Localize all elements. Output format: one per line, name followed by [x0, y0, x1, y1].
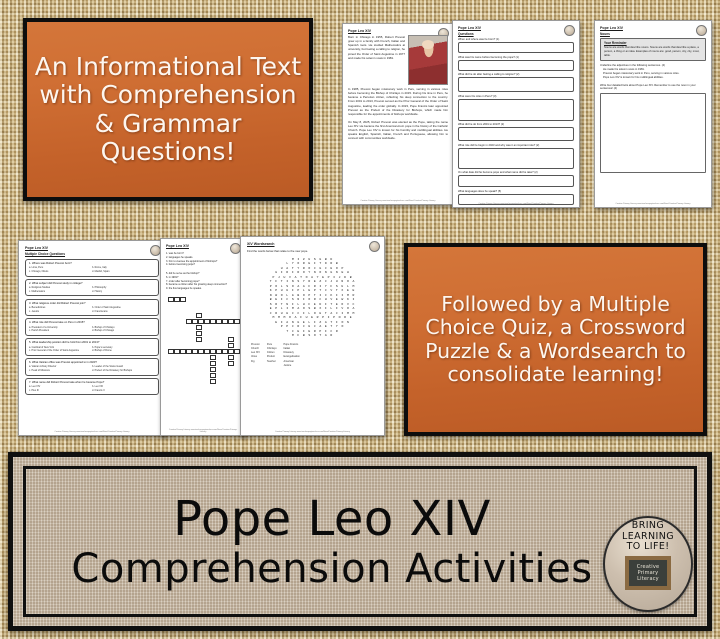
mc-question[interactable]: 2. What subject did Prevost study in col…: [25, 279, 159, 297]
page-footer-credit: Creative Primary Literacy www.teacherspa…: [166, 429, 240, 433]
mc-option-d[interactable]: d. Bishop of Rome: [92, 349, 155, 353]
chalkboard-icon: Creative Primary Literacy: [625, 556, 671, 590]
mc-option-d[interactable]: d. Francis II: [92, 389, 155, 393]
page-subtitle: Questions: [458, 32, 574, 36]
wordsearch-word: Justice: [284, 364, 300, 368]
word-column-1: Prevost Church Leo XIV Vows Fig: [251, 343, 260, 369]
top-marketing-banner: An Informational Text with Comprehension…: [23, 18, 313, 201]
question-label: On what date did he become pope and what…: [458, 171, 574, 174]
wordsearch-instruction: Find the words below that relate to the …: [247, 249, 378, 253]
page-footer-credit: Creative Primary Literacy www.teacherspa…: [458, 203, 574, 205]
question-label: What did he do from 2001 to 2013? (2): [458, 123, 574, 126]
answer-box[interactable]: [600, 93, 706, 173]
page-title: Pope Leo XIV: [458, 26, 574, 30]
page-footer-credit: Creative Primary Literacy www.teacherspa…: [600, 203, 706, 205]
question-label: What did he do after feeling a calling t…: [458, 73, 574, 76]
wordsearch-row: M F B S O T A R: [255, 333, 371, 337]
page-title: XIV Wordsearch: [247, 242, 378, 246]
page-footer-credit: Creative Primary Literacy www.teacherspa…: [24, 431, 160, 433]
word-column-2: Peru Chiclayo Citizen Prefect Teacher: [267, 343, 277, 369]
mc-question[interactable]: 4. What role did Prevost take on Peru in…: [25, 318, 159, 336]
page-title: Pope Leo XIV: [25, 246, 159, 250]
worksheet-crossword[interactable]: Pope Leo XIV 1. was he born? 2. language…: [160, 238, 246, 436]
brand-logo-badge[interactable]: BRING LEARNING TO LIFE! Creative Primary…: [603, 516, 693, 612]
answer-box[interactable]: [458, 148, 574, 169]
right-banner-text: Followed by a Multiple Choice Quiz, a Cr…: [408, 291, 703, 388]
mc-question[interactable]: 6. What Vatican office was Prevost appoi…: [25, 358, 159, 376]
crossword-grid[interactable]: [166, 297, 240, 393]
answer-box[interactable]: [458, 60, 574, 71]
paragraph-2: In 1985, Prevost began missionary work i…: [348, 87, 448, 116]
question-label: When and where was he born? (1): [458, 38, 574, 41]
task-sentence[interactable]: He made his solemn vows in 1981.: [600, 68, 706, 71]
worksheet-comprehension-questions[interactable]: Pope Leo XIV Questions When and where wa…: [452, 20, 580, 208]
answer-box[interactable]: [458, 77, 574, 92]
mc-question-text: 4. What role did Prevost take on Peru in…: [29, 321, 155, 324]
page-subtitle: Multiple Choice Questions: [25, 252, 159, 256]
worksheet-grammar-nouns[interactable]: Pope Leo XIV Nouns Your Reminder Nouns a…: [594, 20, 712, 208]
crossword-clue: 9. the five languages he speaks.: [166, 287, 240, 291]
answer-box[interactable]: [458, 127, 574, 141]
page-title: Pope Leo XIV: [348, 29, 448, 33]
task-sentence[interactable]: Prevost began missionary work in Peru, s…: [600, 72, 706, 75]
crossword-clue: 4. before becoming pope?: [166, 263, 240, 267]
page-subtitle: Nouns: [600, 32, 706, 36]
mc-question-text: 2. What subject did Prevost study in col…: [29, 282, 155, 285]
top-banner-text: An Informational Text with Comprehension…: [27, 51, 309, 169]
wordsearch-word: Fig: [251, 360, 260, 364]
worksheet-multiple-choice[interactable]: Pope Leo XIV Multiple Choice Questions 1…: [18, 240, 166, 436]
answer-box[interactable]: [458, 42, 574, 53]
brand-logo-icon: [369, 241, 380, 252]
worksheet-informational-text[interactable]: Pope Leo XIV Born in Chicago in 1955, Ro…: [342, 23, 454, 205]
product-title-line-1: Pope Leo XIV: [173, 495, 491, 543]
page-title: Pope Leo XIV: [600, 26, 706, 30]
mc-question[interactable]: 7. What name did Robert Prevost take whe…: [25, 378, 159, 396]
answer-box[interactable]: [458, 99, 574, 121]
mc-question[interactable]: 1. Where was Robert Prevost born? a. Lim…: [25, 259, 159, 277]
question-label: What languages does he speak? (5): [458, 190, 574, 193]
question-label: What were his roles in Peru? (3): [458, 95, 574, 98]
grammar-rule-box: Your Reminder Nouns are words that descr…: [600, 38, 706, 61]
page-footer-credit: Creative Primary Literacy www.teacherspa…: [348, 200, 448, 202]
word-column-3: Pope Francis Italian Dicastery Evangelis…: [284, 343, 300, 369]
mc-option-c[interactable]: c. Head of Missions: [29, 369, 92, 373]
page-footer-credit: Creative Primary Literacy www.teacherspa…: [246, 431, 379, 433]
product-title-bar: Pope Leo XIV Comprehension Activities BR…: [8, 452, 712, 631]
mc-question-text: 7. What name did Robert Prevost take whe…: [29, 381, 155, 384]
task-sentence[interactable]: Pope Leo XIV is known for his multilingu…: [600, 76, 706, 79]
page-title: Pope Leo XIV: [166, 244, 240, 248]
brand-logo-icon: [564, 25, 575, 36]
mc-option-c[interactable]: c. Chicago, Illinois: [29, 270, 92, 274]
mc-option-d[interactable]: d. History: [92, 290, 155, 294]
brand-logo-icon: [696, 25, 707, 36]
rule-text: Nouns are words that describe nouns. Nou…: [604, 46, 702, 58]
wordsearch-grid[interactable]: M I Z U S G B D L Y O R E I T D R B U A …: [255, 257, 371, 338]
task-instruction: Underline the adjectives in the followin…: [600, 64, 706, 67]
title-inner-frame: Pope Leo XIV Comprehension Activities: [23, 466, 697, 617]
task-instruction: Write four detailed facts about Pope Leo…: [600, 84, 706, 90]
rule-heading: Your Reminder: [604, 41, 702, 45]
wordsearch-word-list: Prevost Church Leo XIV Vows Fig Peru Chi…: [247, 343, 378, 369]
logo-line-3: TO LIFE!: [627, 542, 670, 553]
mc-question-text: 1. Where was Robert Prevost born?: [29, 262, 155, 265]
right-marketing-banner: Followed by a Multiple Choice Quiz, a Cr…: [404, 243, 707, 436]
mc-option-d[interactable]: d. Madrid, Spain: [92, 270, 155, 274]
mc-option-c[interactable]: c. Prior General of the Order of Saint A…: [29, 349, 92, 353]
chalk-line-3: Literacy: [637, 576, 659, 582]
mc-question-text: 5. What leadership position did he hold …: [29, 341, 155, 344]
wordsearch-word: Teacher: [267, 360, 277, 364]
mc-option-d[interactable]: d. Prefect of the Dicastery for Bishops: [92, 369, 155, 373]
question-label: What role did he begin in 2023 and why w…: [458, 144, 574, 147]
worksheet-wordsearch[interactable]: XIV Wordsearch Find the words below that…: [240, 236, 385, 436]
mc-option-d[interactable]: d. Franciscans: [92, 310, 155, 314]
mc-option-c[interactable]: c. Jesuits: [29, 310, 92, 314]
mc-question[interactable]: 5. What leadership position did he hold …: [25, 338, 159, 356]
mc-option-d[interactable]: d. Bishop of Chicago: [92, 329, 155, 333]
mc-question-text: 3. What religious order did Robert Prevo…: [29, 302, 155, 305]
mc-option-c[interactable]: c. Parish President: [29, 329, 92, 333]
mc-option-c[interactable]: c. Pius III: [29, 389, 92, 393]
mc-question[interactable]: 3. What religious order did Robert Prevo…: [25, 299, 159, 317]
mc-question-text: 6. What Vatican office was Prevost appoi…: [29, 361, 155, 364]
answer-box[interactable]: [458, 175, 574, 187]
paragraph-3: On May 8, 2025, Robert Prevost was elect…: [348, 120, 448, 141]
pope-portrait-image: [408, 35, 448, 85]
question-label: What was his name before becoming the po…: [458, 56, 574, 59]
product-title-line-2: Comprehension Activities: [71, 549, 592, 589]
mc-option-c[interactable]: c. Mathematics: [29, 290, 92, 294]
